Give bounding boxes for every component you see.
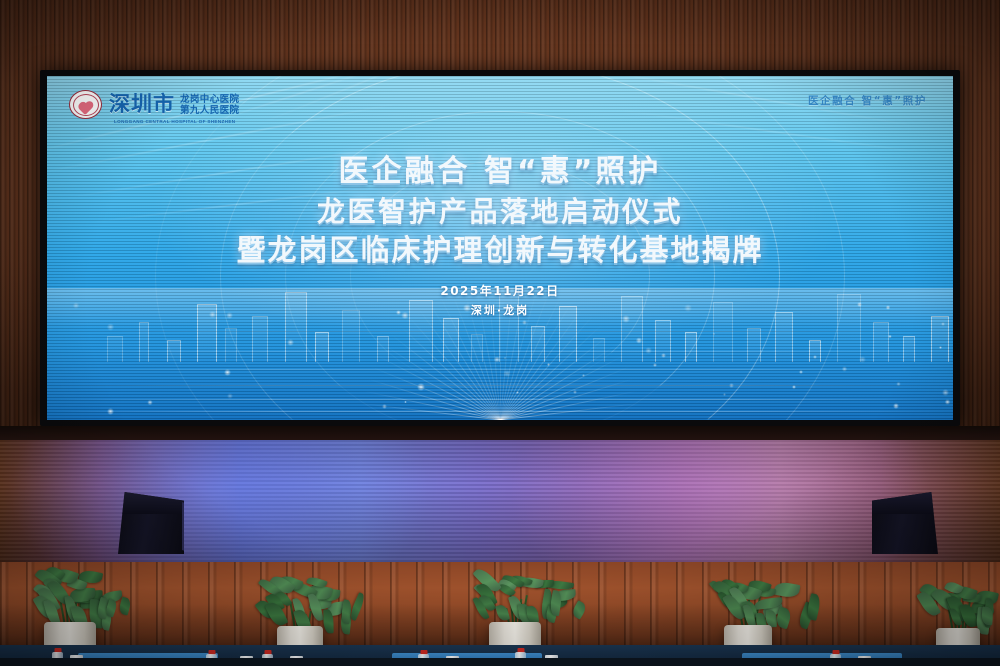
hospital-logo: 深圳市 龙岗中心医院 第九人民医院 LONGGANG CENTRAL HOSPI… xyxy=(69,90,239,119)
event-title-block: 医企融合 智“惠”照护 龙医智护产品落地启动仪式 暨龙岗区临床护理创新与转化基地… xyxy=(47,154,953,318)
title-line-3: 暨龙岗区临床护理创新与转化基地揭牌 xyxy=(47,233,953,268)
logo-english-name: LONGGANG CENTRAL HOSPITAL OF SHENZHEN xyxy=(114,119,235,124)
led-screen-bezel: 深圳市 龙岗中心医院 第九人民医院 LONGGANG CENTRAL HOSPI… xyxy=(40,70,960,426)
led-screen: 深圳市 龙岗中心医院 第九人民医院 LONGGANG CENTRAL HOSPI… xyxy=(47,76,953,420)
foreground-shadow xyxy=(0,658,1000,666)
event-date: 2025年11月22日 xyxy=(47,282,953,299)
stage-monitor-speaker-right xyxy=(872,492,938,554)
title-line-2: 龙医智护产品落地启动仪式 xyxy=(47,195,953,229)
title-line-1: 医企融合 智“惠”照护 xyxy=(47,154,953,191)
corner-slogan: 医企融合 智“惠”照护 xyxy=(808,93,927,108)
logo-hospital-line-2: 第九人民医院 xyxy=(180,106,239,116)
conference-hall-photo: 深圳市 龙岗中心医院 第九人民医院 LONGGANG CENTRAL HOSPI… xyxy=(0,0,1000,666)
logo-city-name: 深圳市 xyxy=(109,94,175,115)
event-location: 深圳·龙岗 xyxy=(47,302,953,318)
logo-hospital-line-1: 龙岗中心医院 xyxy=(180,95,239,105)
stage-monitor-speaker-left xyxy=(118,492,184,554)
hospital-seal-icon xyxy=(69,90,102,119)
